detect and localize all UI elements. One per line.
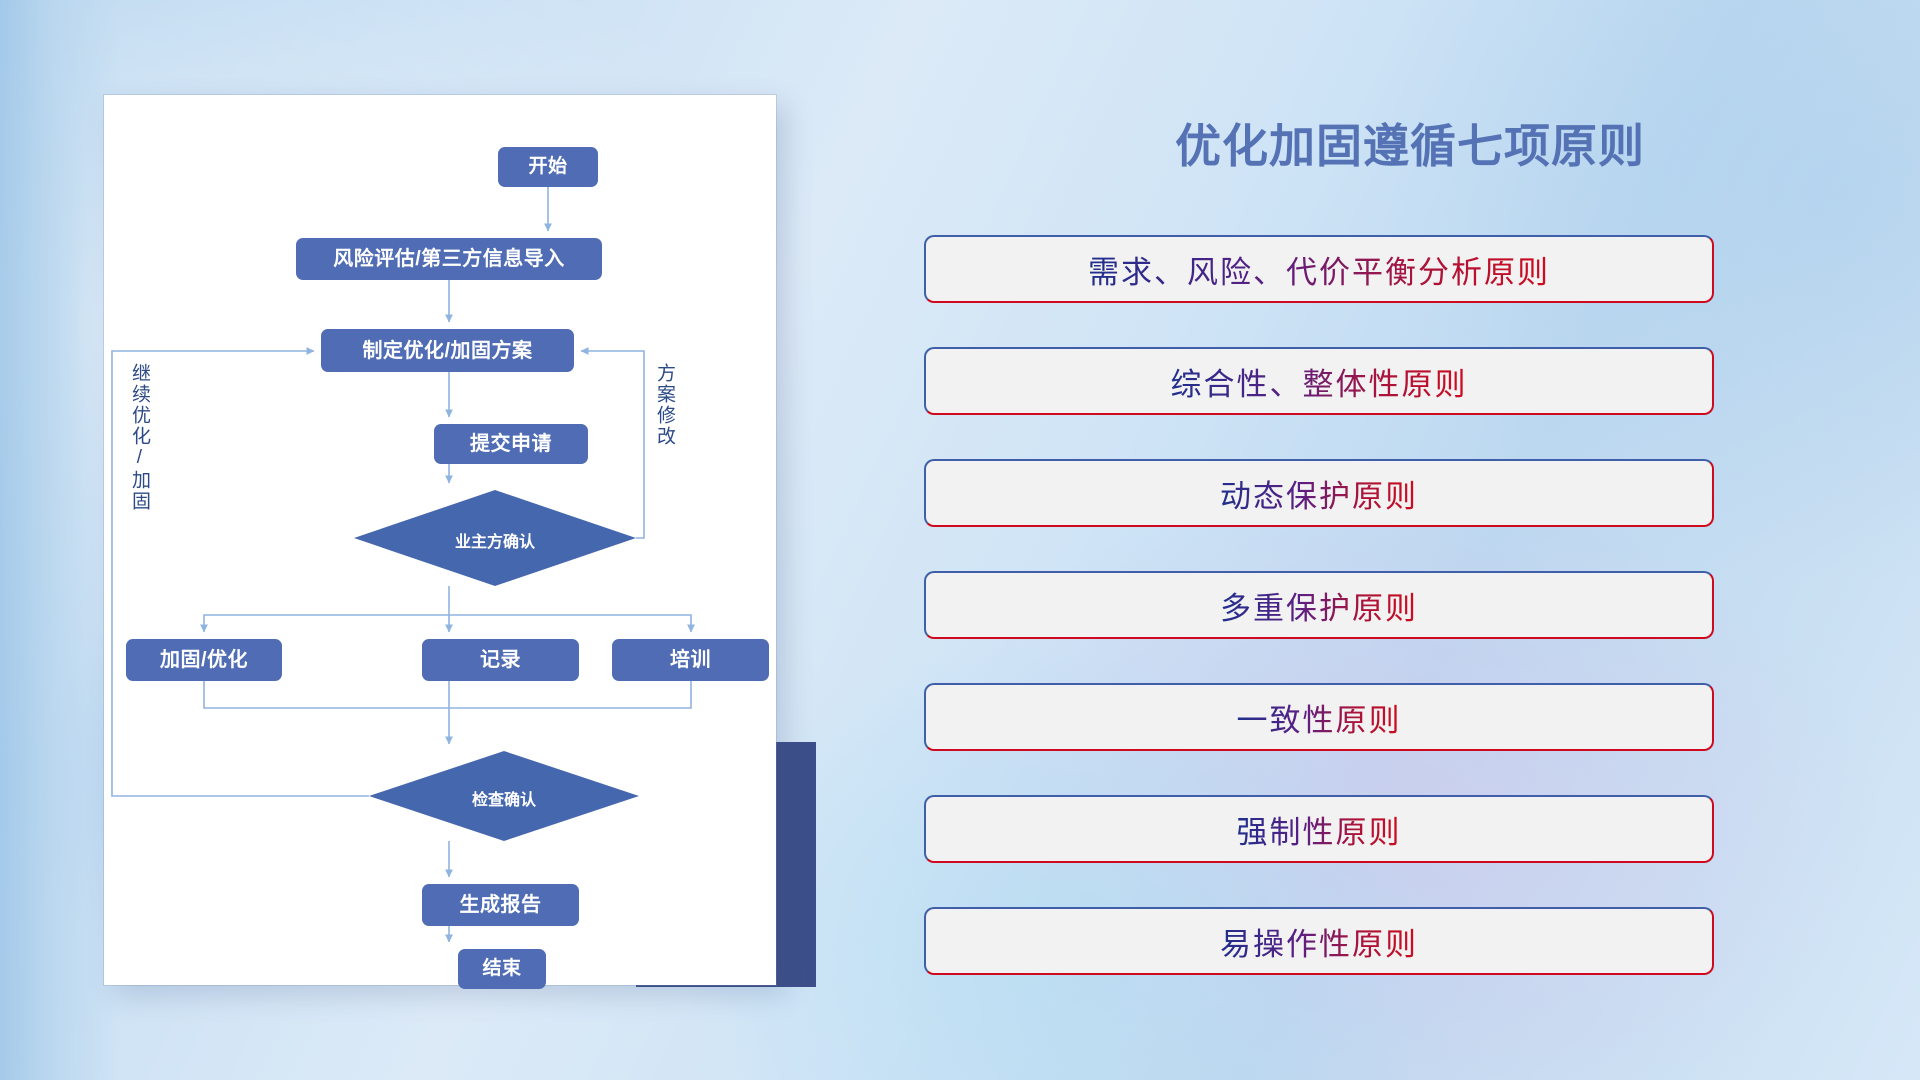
principle-label: 强制性原则: [1237, 807, 1402, 852]
flow-node-risk-assessment[interactable]: 风险评估/第三方信息导入: [296, 238, 602, 280]
edge-label-continue-optimize: 继续优化/加固: [129, 363, 149, 512]
principle-bar-1[interactable]: 需求、风险、代价平衡分析原则: [924, 235, 1714, 303]
flow-node-training[interactable]: 培训: [612, 639, 769, 681]
flow-node-generate-report[interactable]: 生成报告: [422, 884, 579, 926]
flowchart-card: 开始 风险评估/第三方信息导入 制定优化/加固方案 提交申请 业主方确认 加固/…: [104, 95, 776, 985]
principle-label: 需求、风险、代价平衡分析原则: [1088, 247, 1550, 292]
principle-label: 动态保护原则: [1220, 471, 1418, 516]
principle-label: 一致性原则: [1237, 695, 1402, 740]
principle-bar-5[interactable]: 一致性原则: [924, 683, 1714, 751]
principle-bar-6[interactable]: 强制性原则: [924, 795, 1714, 863]
flow-node-make-plan[interactable]: 制定优化/加固方案: [321, 329, 574, 372]
edge-label-plan-revision: 方案修改: [654, 363, 674, 447]
principles-panel: 优化加固遵循七项原则 需求、风险、代价平衡分析原则 综合性、整体性原则 动态保护…: [900, 0, 1920, 1080]
flow-node-record[interactable]: 记录: [422, 639, 579, 681]
flow-node-end[interactable]: 结束: [458, 949, 546, 989]
flowchart-panel: 开始 风险评估/第三方信息导入 制定优化/加固方案 提交申请 业主方确认 加固/…: [0, 0, 900, 1080]
flow-node-reinforce-optimize[interactable]: 加固/优化: [126, 639, 282, 681]
principle-bar-3[interactable]: 动态保护原则: [924, 459, 1714, 527]
principle-label: 多重保护原则: [1220, 583, 1418, 628]
principle-bar-7[interactable]: 易操作性原则: [924, 907, 1714, 975]
principle-label: 综合性、整体性原则: [1171, 359, 1468, 404]
flow-node-start[interactable]: 开始: [498, 147, 598, 187]
principle-label: 易操作性原则: [1220, 919, 1418, 964]
principle-bar-2[interactable]: 综合性、整体性原则: [924, 347, 1714, 415]
principles-title: 优化加固遵循七项原则: [900, 110, 1920, 176]
principle-bar-4[interactable]: 多重保护原则: [924, 571, 1714, 639]
flow-node-submit-application[interactable]: 提交申请: [434, 424, 588, 464]
flowchart-connectors: [104, 95, 776, 985]
